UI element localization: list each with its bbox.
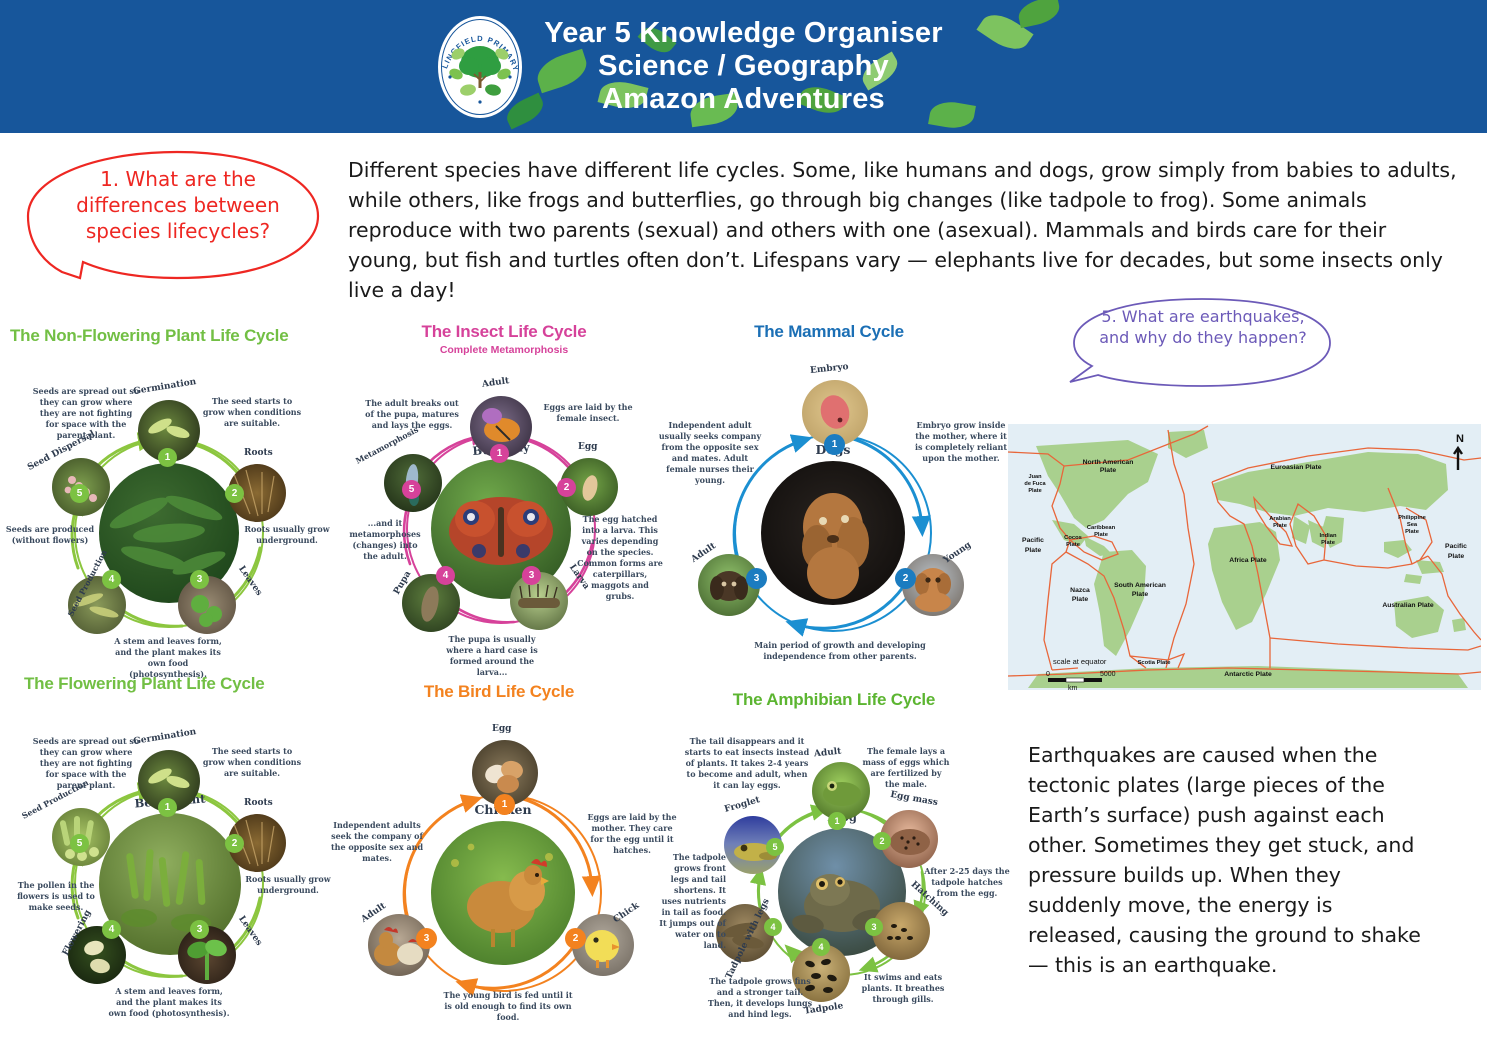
stage-badge-2: 2 [895,568,916,589]
plate-label-philippine-2: Sea [1407,522,1418,528]
stage-badge-3: 3 [190,920,209,939]
stage-label-1: Germination [133,377,197,397]
stage-text-3: It swims and eats plants. It breathes th… [860,972,946,1005]
intro-paragraph: Different species have different life cy… [348,155,1458,305]
plate-label-pacific-east-2: Plate [1448,553,1464,560]
earthquake-explanation: Earthquakes are caused when the tectonic… [1028,740,1428,980]
plate-label-philippine-3: Plate [1405,529,1420,535]
plate-label-pacific-west: Pacific [1022,537,1044,544]
title-line-2: Science / Geography [0,50,1487,83]
stage-badge-3: 3 [522,566,541,585]
stage-badge-1: 1 [158,798,177,817]
stage-badge-1: 1 [490,444,509,463]
cycle-flowering-plant: The Flowering Plant Life Cycle Bean Plan… [4,674,334,1034]
plate-label-australian: Australian Plate [1382,602,1434,609]
plate-label-antarctic: Antarctic Plate [1224,671,1272,678]
stage-text-1: Seeds are spread out so they can grow wh… [32,386,140,441]
cycle-title: The Mammal Cycle [654,322,1004,342]
cycle-title: The Insect Life Cycle [344,322,664,342]
stage-text-2: Main period of growth and developing ind… [752,640,928,662]
stage-label-1: Adult [814,747,842,760]
map-scale-max: 5000 [1100,671,1116,678]
map-scale-caption: scale at equator [1053,657,1107,666]
center-image-dog [761,461,905,605]
stage-badge-1: 1 [158,448,177,467]
stage-text-4: A stem and leaves form, and the plant ma… [108,986,230,1019]
stage-text-2: The seed starts to grow when conditions … [200,396,304,429]
stage-badge-3: 3 [190,570,209,589]
stage-text-5: Seeds are produced (without flowers) [4,524,96,546]
stage-badge-5: 5 [766,838,784,856]
cycle-mammal: The Mammal Cycle Dogs 1 Embryo [654,322,1004,672]
stage-text-6: The tail disappears and it starts to eat… [682,736,812,791]
stage-text-1: Seeds are spread out so they can grow wh… [32,736,140,791]
plate-label-caribbean: Caribbean [1087,525,1116,531]
plate-label-juan-de-fuca-2: de Fuca [1024,481,1046,487]
stage-text-1: Embryo grow inside the mother, where it … [912,420,1010,464]
stage-badge-5: 5 [402,480,421,499]
stage-badge-2: 2 [557,478,576,497]
stage-badge-4: 4 [812,938,830,956]
tectonic-plates-map: N scale at equator 0 5000 km North Ameri… [1008,424,1481,690]
stage-badge-4: 4 [102,570,121,589]
center-image-chicken [431,821,575,965]
stage-label-2: Roots [244,448,273,458]
map-north-label: N [1456,433,1464,445]
stage-label-1: Germination [133,727,197,747]
stage-badge-3: 3 [416,928,437,949]
stage-text-3: Roots usually grow underground. [242,874,334,896]
page-title: Year 5 Knowledge Organiser Science / Geo… [0,17,1487,116]
plate-label-caribbean-2: Plate [1094,532,1109,538]
cycle-title: The Bird Life Cycle [324,682,674,702]
cycle-bird: The Bird Life Cycle Chicken 1 Egg [324,682,674,1032]
stage-badge-2: 2 [225,484,244,503]
plate-label-south-american: South American [1114,582,1166,589]
plate-label-pacific-east: Pacific [1445,543,1467,550]
stage-badge-5: 5 [70,834,89,853]
plate-label-north-american: North American [1083,459,1134,466]
plate-label-north-american-2: Plate [1100,467,1116,474]
stage-text-2: The seed starts to grow when conditions … [200,746,304,779]
stage-badge-4: 4 [436,566,455,585]
question-5-text: 5. What are earthquakes, and why do they… [1092,306,1314,348]
plate-label-nazca: Nazca [1070,587,1090,594]
stage-badge-2: 2 [565,928,586,949]
plate-label-euroasian: Euroasian Plate [1271,464,1322,471]
stage-text-3: Roots usually grow underground. [242,524,332,546]
title-line-3: Amazon Adventures [0,83,1487,116]
stage-label-1: Embryo [810,362,849,376]
stage-badge-2: 2 [225,834,244,853]
map-scale-zero: 0 [1046,671,1050,678]
plate-label-south-american-2: Plate [1132,591,1148,598]
stage-label-1: Egg [492,724,511,734]
cycle-insect: The Insect Life Cycle Complete Metamorph… [344,322,664,667]
plate-label-arabian-2: Plate [1273,523,1288,529]
cycle-title: The Non-Flowering Plant Life Cycle [10,326,340,346]
question-bubble-5: 5. What are earthquakes, and why do they… [1062,296,1342,392]
plate-label-juan-de-fuca: Juan [1028,474,1042,480]
stage-badge-1: 1 [824,434,845,455]
cycle-subtitle: Complete Metamorphosis [344,344,664,356]
page-header: LINGFIELD PRIMARY SCHOOL [0,0,1487,133]
question-bubble-1: 1. What are the differences between spec… [18,148,336,288]
stage-text-2: Eggs are laid by the female insect. [538,402,638,424]
cycle-title: The Amphibian Life Cycle [654,690,1014,710]
stage-badge-5: 5 [70,484,89,503]
plate-label-africa: Africa Plate [1229,557,1267,564]
stage-text-3: Independent adult usually seeks company … [658,420,762,486]
stage-badge-1: 1 [828,812,846,830]
plate-label-juan-de-fuca-3: Plate [1028,488,1041,494]
stage-label-2: Egg [578,442,597,452]
stage-text-2: After 2-25 days the tadpole hatches from… [922,866,1012,899]
plate-label-nazca-2: Plate [1072,596,1088,603]
stage-label-2: Roots [244,798,273,808]
plate-label-indian: Indian [1319,533,1337,539]
stage-text-1: The female lays a mass of eggs which are… [862,746,950,790]
plate-label-cocos-2: Plate [1066,542,1081,548]
stage-text-5: ...and it metamorphoses (changes) into t… [344,518,426,562]
cycle-nonflowering-plant: The Non-Flowering Plant Life Cycle Fern … [4,326,334,666]
stage-badge-4: 4 [102,920,121,939]
stage-label-1: Adult [481,376,510,390]
stage-badge-2: 2 [873,832,891,850]
stage-text-2: The young bird is fed until it is old en… [440,990,576,1023]
plate-label-scotia: Scotia Plate [1138,660,1172,666]
plate-label-arabian: Arabian [1269,516,1291,522]
cycle-title: The Flowering Plant Life Cycle [24,674,354,694]
plate-label-pacific-west-2: Plate [1025,547,1041,554]
cycle-amphibian: The Amphibian Life Cycle Frog 1 Adult 2 [654,690,1014,1040]
plate-label-cocos: Cocos [1064,535,1082,541]
stage-text-3: Independent adults seek the company of t… [324,820,430,864]
stage-badge-3: 3 [746,568,767,589]
stage-text-3: The egg hatched into a larva. This varie… [576,514,664,602]
title-line-1: Year 5 Knowledge Organiser [0,17,1487,50]
plate-label-indian-2: Plate [1321,540,1336,546]
plate-label-philippine: Philippine [1398,515,1426,521]
stage-badge-4b: 4 [764,918,782,936]
stage-badge-3: 3 [865,918,883,936]
stage-text-1: The adult breaks out of the pupa, mature… [360,398,464,431]
stage-badge-1: 1 [494,794,515,815]
question-1-text: 1. What are the differences between spec… [58,166,298,244]
map-scale-unit: km [1068,685,1078,690]
stage-text-5: The tadpole grows front legs and tail sh… [654,852,726,951]
stage-text-4: The tadpole grows fins and a stronger ta… [704,976,816,1020]
stage-text-5: The pollen in the flowers is used to mak… [14,880,98,913]
stage-text-4: The pupa is usually where a hard case is… [440,634,544,678]
